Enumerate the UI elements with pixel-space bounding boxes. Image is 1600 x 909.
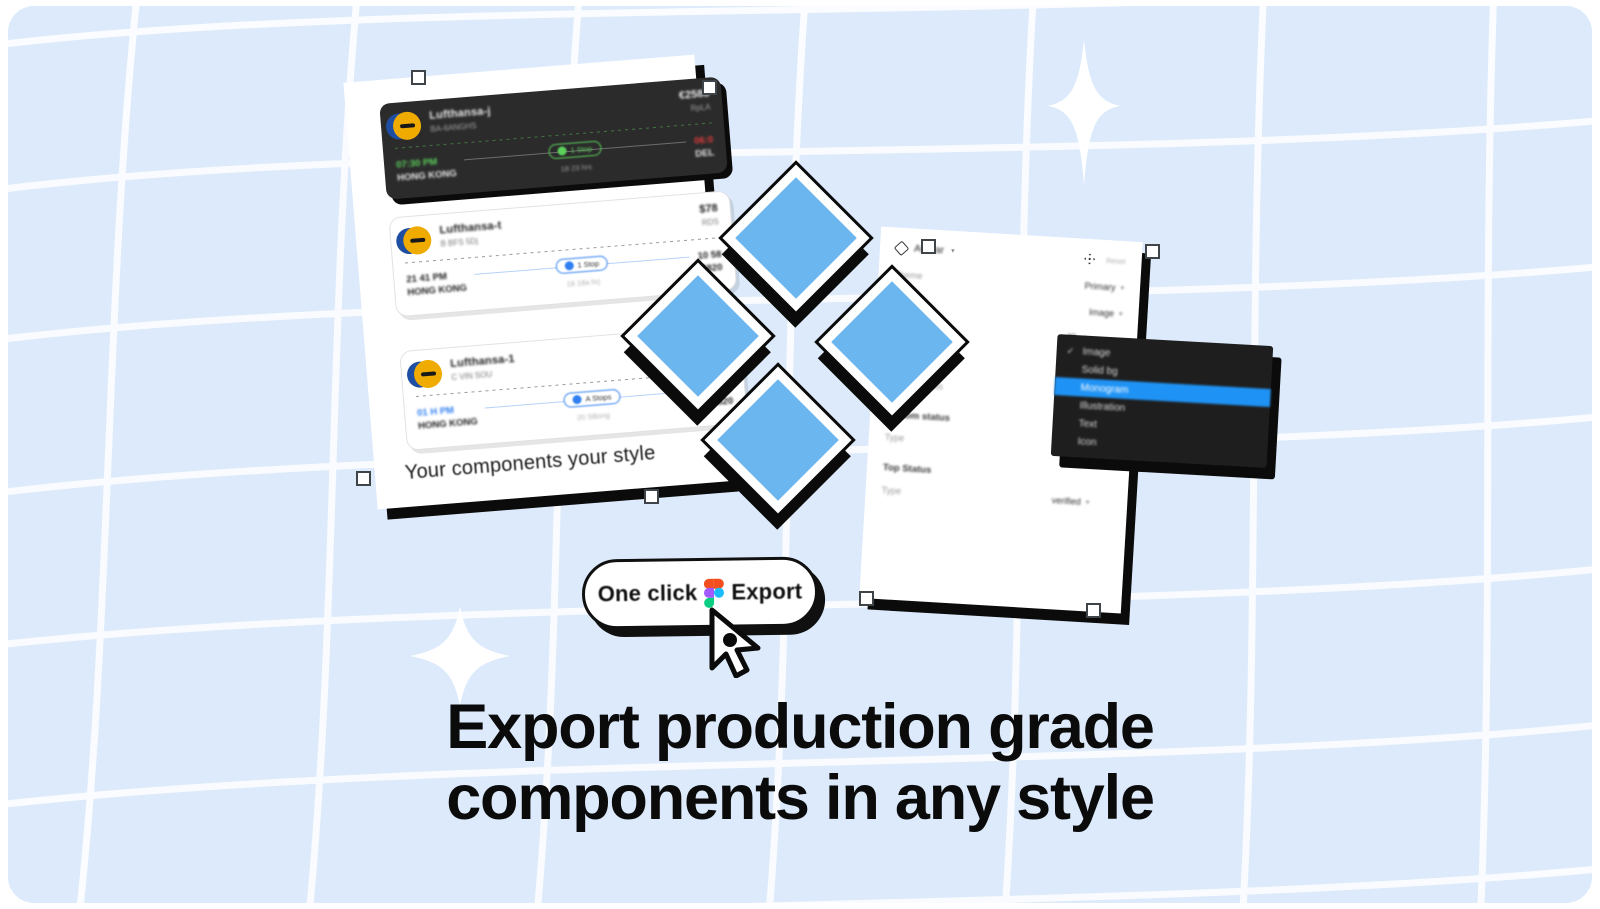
airline-name: Lufthansa-1 bbox=[450, 353, 515, 370]
flight-number: B BFS 5Dj bbox=[440, 235, 503, 249]
check-placeholder bbox=[1062, 440, 1071, 441]
property-row-theme[interactable]: Theme Primary ▾ bbox=[894, 269, 1124, 293]
menu-item-label: Icon bbox=[1077, 436, 1096, 448]
check-icon: ✓ bbox=[1066, 345, 1076, 356]
property-value-text: verified bbox=[1052, 495, 1082, 507]
check-placeholder bbox=[1066, 369, 1075, 370]
airline-name: Lufthansa-j bbox=[429, 105, 491, 122]
stops-pill[interactable]: 1 Stop bbox=[548, 140, 602, 159]
property-value[interactable]: verified ▾ bbox=[1052, 495, 1090, 507]
one-click-export-button[interactable]: One click Export bbox=[582, 556, 819, 629]
components-preview-card[interactable]: Lufthansa-j BA-6ANGHS €2588 RpLA 07:30 P… bbox=[343, 55, 728, 510]
reset-label[interactable]: Reset bbox=[1106, 255, 1126, 265]
check-placeholder bbox=[1063, 422, 1072, 423]
property-row-top-type[interactable]: Type verified ▾ bbox=[881, 485, 1111, 509]
arrive-time: 10 58 bbox=[697, 249, 722, 262]
move-icon[interactable] bbox=[1084, 253, 1097, 266]
depart-city: HONG KONG bbox=[407, 282, 467, 298]
airline-logo-icon bbox=[402, 225, 432, 255]
menu-item-label: Text bbox=[1078, 418, 1097, 430]
flight-row-dark[interactable]: Lufthansa-j BA-6ANGHS €2588 RpLA 07:30 P… bbox=[379, 77, 728, 200]
sparkle-star-large bbox=[1008, 36, 1160, 188]
component-icon bbox=[894, 240, 910, 256]
property-label: Type bbox=[881, 485, 901, 496]
property-value[interactable]: Primary ▾ bbox=[1084, 281, 1124, 293]
property-value[interactable]: Image ▾ bbox=[1089, 307, 1123, 319]
flight-duration: 18 18a hrj bbox=[475, 270, 692, 296]
flight-duration: 20 SBong bbox=[486, 403, 702, 429]
headline-line-1: Export production grade bbox=[446, 692, 1153, 762]
style-dropdown-menu[interactable]: ✓ Image Solid bg Monogram Illustration T… bbox=[1051, 334, 1273, 468]
selection-handle-br[interactable] bbox=[1086, 603, 1101, 618]
menu-item-label: Image bbox=[1082, 346, 1110, 359]
menu-item-label: Illustration bbox=[1079, 400, 1125, 414]
chevron-down-icon: ▾ bbox=[1119, 310, 1123, 318]
airline-logo-icon bbox=[413, 359, 443, 389]
selection-handle-tl[interactable] bbox=[411, 70, 426, 85]
chevron-down-icon: ▾ bbox=[1120, 284, 1124, 292]
property-label: Type bbox=[884, 432, 904, 443]
selection-handle-br[interactable] bbox=[644, 489, 659, 504]
export-prefix-label: One click bbox=[598, 580, 698, 607]
flight-number: BA-6ANGHS bbox=[430, 120, 492, 134]
mouse-cursor-icon bbox=[706, 606, 768, 678]
card-tagline: Your components your style bbox=[404, 442, 656, 485]
selection-handle-tr[interactable] bbox=[1145, 244, 1160, 259]
selection-handle-bl[interactable] bbox=[859, 591, 874, 606]
page-title: Export production grade components in an… bbox=[8, 692, 1592, 834]
stops-pill[interactable]: A Stops bbox=[563, 389, 621, 409]
flight-duration: 18 23 hrs bbox=[465, 154, 688, 181]
property-value-text: Primary bbox=[1084, 281, 1116, 293]
selection-handle-tr[interactable] bbox=[702, 80, 717, 95]
property-value-text: Image bbox=[1089, 307, 1115, 318]
flight-number: C VIN SOU bbox=[451, 368, 516, 382]
airline-name: Lufthansa-t bbox=[439, 220, 502, 237]
plane-icon bbox=[572, 395, 582, 405]
stops-label: 1 Stop bbox=[577, 259, 599, 270]
flight-price: $78 bbox=[699, 202, 718, 215]
selection-handle-bl[interactable] bbox=[356, 471, 371, 486]
arrive-city: 3820 bbox=[708, 395, 734, 408]
airline-logo-icon bbox=[392, 111, 422, 141]
menu-item-label: Solid bg bbox=[1081, 364, 1118, 377]
headline-line-2: components in any style bbox=[8, 763, 1592, 834]
chevron-down-icon[interactable]: ▾ bbox=[951, 247, 955, 255]
plane-icon bbox=[557, 146, 567, 156]
section-heading-top-status: Top Status bbox=[883, 462, 1113, 487]
flight-currency: RpLA bbox=[680, 102, 711, 113]
arrive-city: DEL bbox=[695, 147, 715, 159]
depart-city: HONG KONG bbox=[397, 168, 457, 184]
flight-currency: RDS bbox=[700, 217, 719, 227]
check-placeholder bbox=[1065, 387, 1074, 388]
depart-city: HONG KONG bbox=[418, 416, 478, 432]
figma-logo-icon bbox=[704, 578, 724, 607]
stops-label: A Stops bbox=[585, 392, 611, 403]
stops-pill[interactable]: 1 Stop bbox=[555, 255, 609, 274]
chevron-down-icon: ▾ bbox=[1086, 498, 1090, 506]
menu-item-label: Monogram bbox=[1080, 382, 1128, 396]
check-placeholder bbox=[1064, 405, 1073, 406]
plane-icon bbox=[564, 261, 574, 271]
export-suffix-label: Export bbox=[731, 579, 802, 606]
stops-label: 1 Stop bbox=[570, 144, 592, 155]
hero-banner: Lufthansa-j BA-6ANGHS €2588 RpLA 07:30 P… bbox=[8, 6, 1592, 903]
selection-handle-tl[interactable] bbox=[921, 239, 936, 254]
arrive-time: 06:0 bbox=[694, 134, 714, 146]
